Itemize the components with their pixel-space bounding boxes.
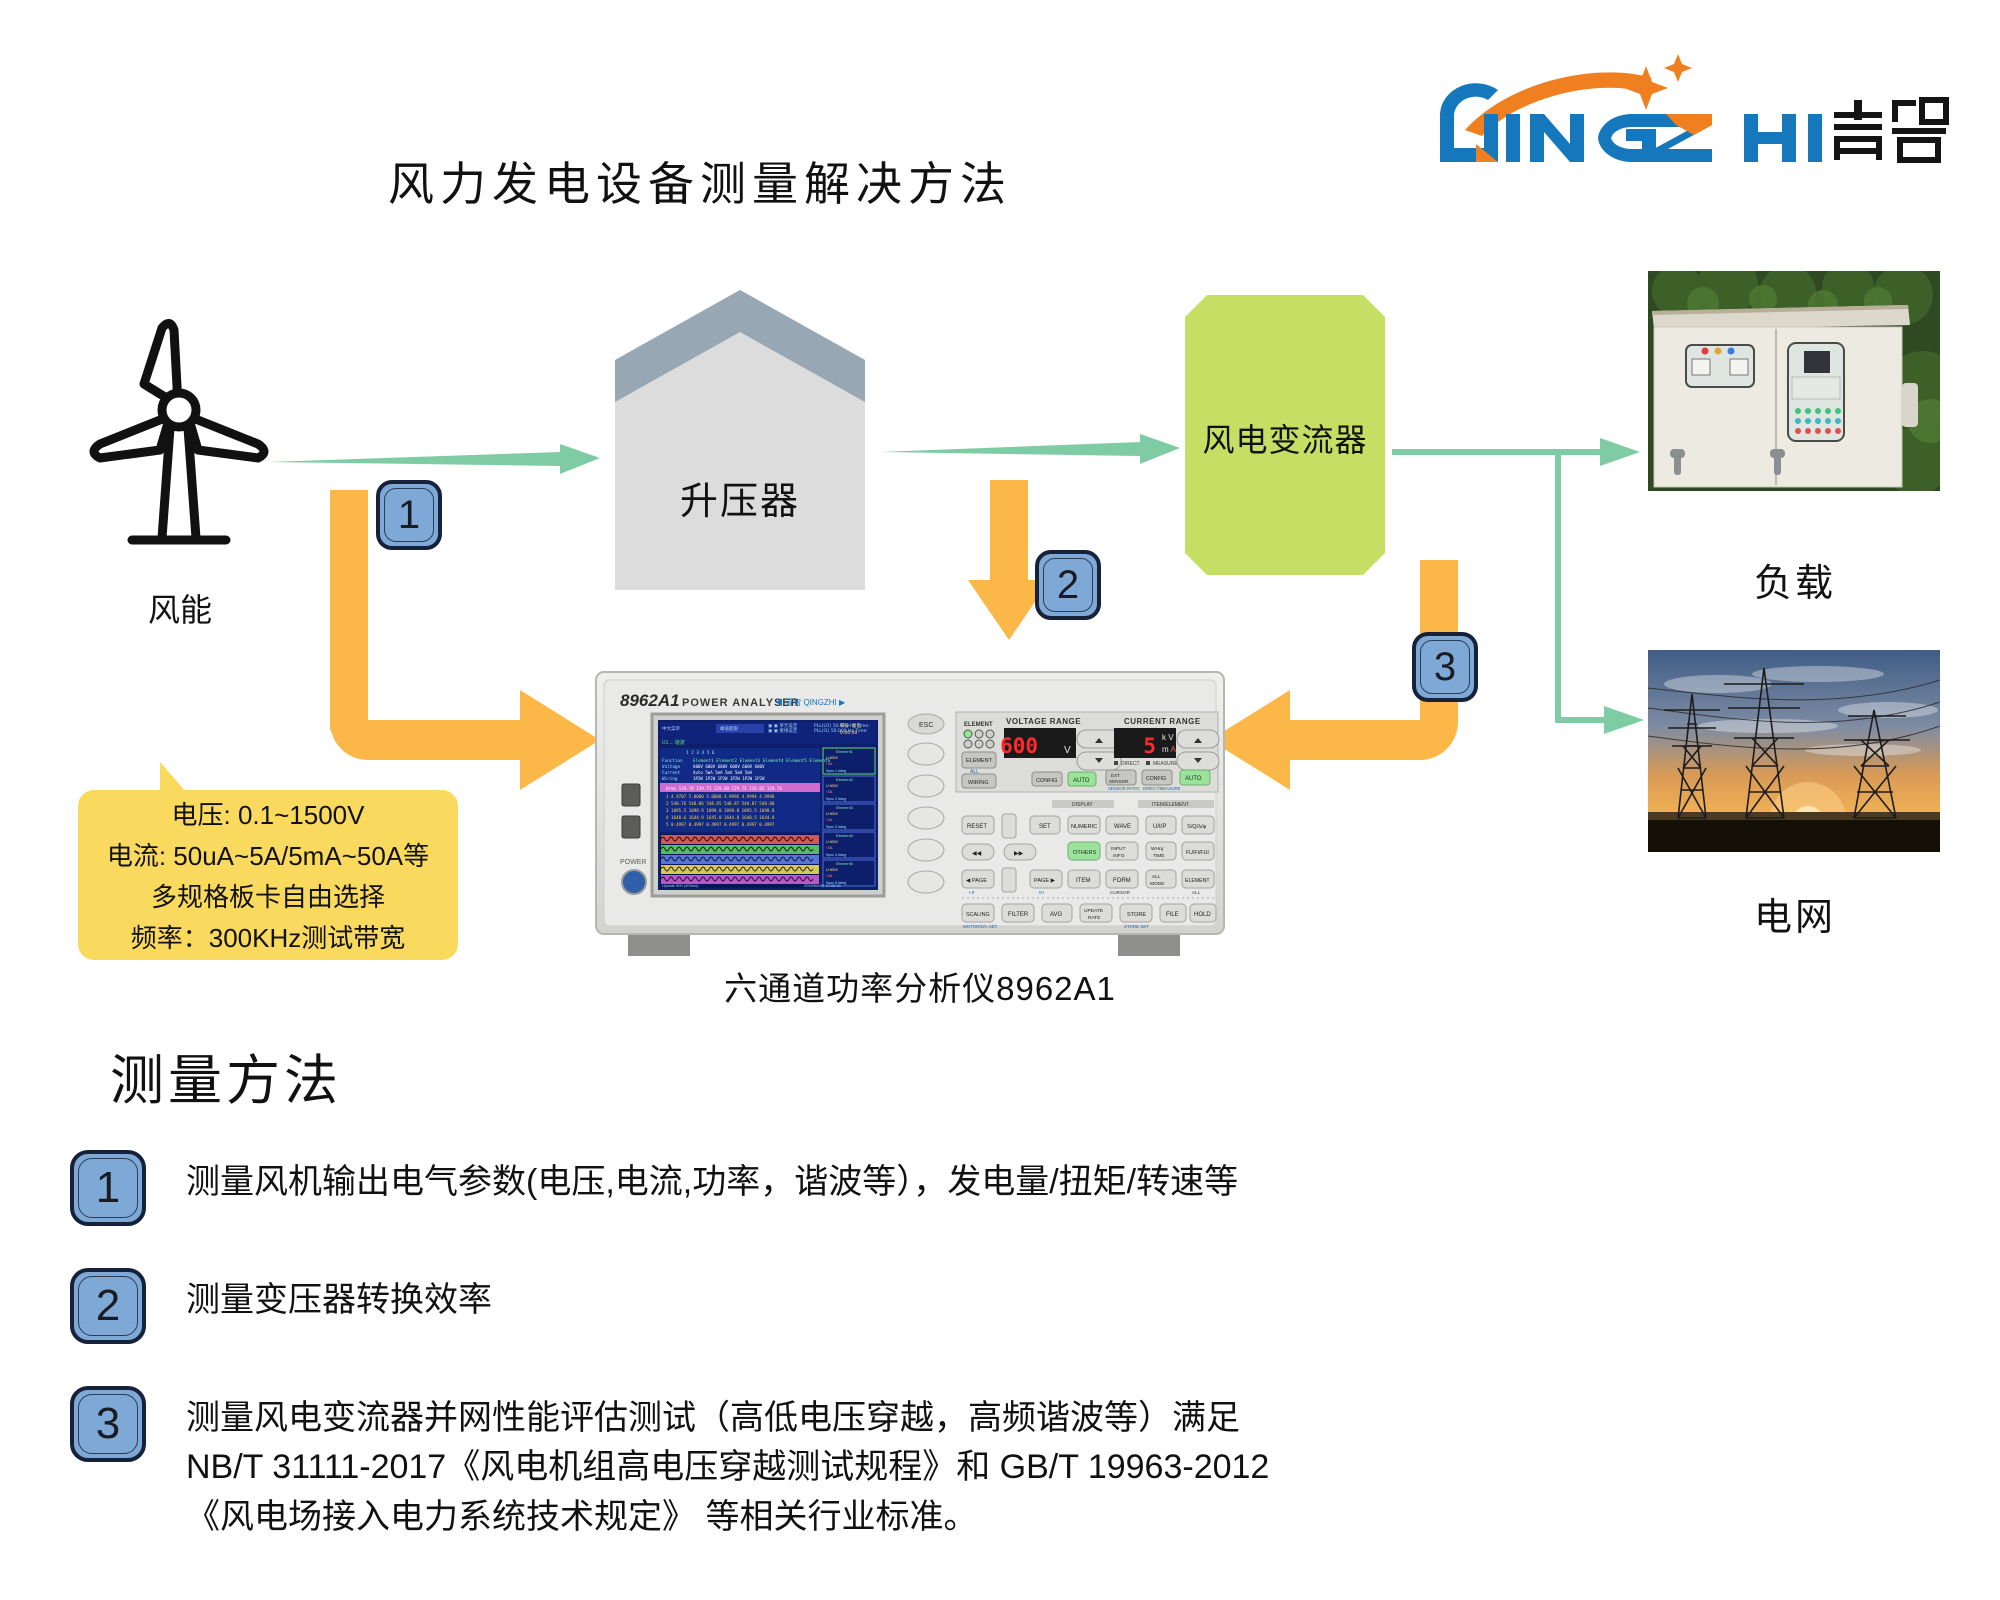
method-item-1: 1 测量风机输出电气参数(电压,电流,功率，谐波等），发电量/扭矩/转速等 <box>70 1150 1950 1226</box>
svg-text:ALL: ALL <box>1192 890 1201 895</box>
svg-text:ELEMENT: ELEMENT <box>966 758 993 764</box>
svg-text:2 548.76 548.86 548.85 548: 2 548.76 548.86 548.85 548.87 548.87 548… <box>666 801 775 806</box>
svg-text:AUTO: AUTO <box>1185 776 1202 782</box>
method-item-2: 2 测量变压器转换效率 <box>70 1268 1950 1344</box>
svg-text:U 600V: U 600V <box>826 756 839 760</box>
svg-text:U 600V: U 600V <box>826 812 839 816</box>
svg-text:NUMERIC: NUMERIC <box>1071 824 1097 830</box>
method-badge-2-number: 2 <box>96 1284 120 1328</box>
svg-text:DIRECT/MEASURE: DIRECT/MEASURE <box>1143 786 1181 791</box>
svg-text:MEASURE: MEASURE <box>1153 761 1178 767</box>
svg-text:I 5A: I 5A <box>826 874 833 878</box>
svg-text:SET: SET <box>1039 824 1051 830</box>
green-arrow-1 <box>268 444 600 474</box>
method-1-line-1: 测量风机输出电气参数(电压,电流,功率，谐波等），发电量/扭矩/转速等 <box>186 1158 1238 1207</box>
svg-text:Update 500 (400ms): Update 500 (400ms) <box>662 883 699 888</box>
svg-text:4 1640.6 1644.9 1645.0 164: 4 1640.6 1644.9 1645.0 1644.8 1640.5 164… <box>666 815 775 820</box>
diagram-badge-1[interactable]: 1 <box>376 480 442 550</box>
svg-text:0:00:00: 0:00:00 <box>840 730 857 736</box>
svg-text:8962A1: 8962A1 <box>620 691 680 710</box>
method-3-line-3: 《风电场接入电力系统技术规定》 等相关行业标准。 <box>186 1493 1269 1542</box>
power-label-text: POWER <box>620 859 646 866</box>
svg-text:CURSOR: CURSOR <box>1110 890 1131 895</box>
svg-text:0-I: 0-I <box>1039 890 1044 895</box>
grid-label: 电网 <box>1620 886 1970 941</box>
svg-text:Wiring: Wiring <box>662 776 678 782</box>
svg-text:U1→ 谐波: U1→ 谐波 <box>662 739 685 746</box>
svg-text:FILE: FILE <box>1166 912 1179 918</box>
logo-sparkle-large <box>1624 66 1668 110</box>
svg-text:5 0.4997 0.4997 0.4997 0.4: 5 0.4997 0.4997 0.4997 0.4997 0.4997 0.4… <box>666 822 775 827</box>
svg-text:◀ PAGE: ◀ PAGE <box>966 878 987 884</box>
svg-text:FORM: FORM <box>1113 878 1131 884</box>
svg-text:m A: m A <box>1162 745 1176 754</box>
green-arrowhead-load <box>1600 438 1640 466</box>
svg-text:5: 5 <box>1143 734 1156 758</box>
booster-label: 升压器 <box>615 470 865 525</box>
svg-text:Sync 4 Integ: Sync 4 Integ <box>826 853 846 857</box>
svg-text:ELEMENT: ELEMENT <box>964 722 993 728</box>
page-title: 风力发电设备测量解决方法 <box>0 148 1400 214</box>
svg-text:HOLD: HOLD <box>1194 912 1211 918</box>
power-button <box>622 870 646 894</box>
svg-text:DIRECT: DIRECT <box>1121 761 1140 767</box>
svg-text:1P2W 1P2W 1P2W 1P2W 1P2W 1P2W: 1P2W 1P2W 1P2W 1P2W 1P2W 1P2W <box>693 776 765 781</box>
power-grid-photo <box>1648 650 1940 852</box>
svg-text:Sync 3 Integ: Sync 3 Integ <box>826 825 846 829</box>
svg-text:INPUT: INPUT <box>1111 846 1125 852</box>
svg-text:WAVE: WAVE <box>1114 824 1131 830</box>
svg-text:▣ ▣ 单元设定: ▣ ▣ 单元设定 <box>768 722 798 729</box>
svg-text:▶▶: ▶▶ <box>1014 851 1024 857</box>
svg-text:峰值超限: 峰值超限 <box>720 725 738 732</box>
svg-text:中文菜单: 中文菜单 <box>662 725 680 732</box>
method-text-3: 测量风电变流器并网性能评估测试（高低电压穿越，高频谐波等）满足 NB/T 311… <box>186 1386 1269 1542</box>
booster-shape <box>615 290 865 590</box>
method-badge-1-number: 1 <box>96 1166 120 1210</box>
svg-text:WHrq: WHrq <box>1151 846 1164 852</box>
svg-text:I 5A: I 5A <box>826 790 833 794</box>
badge-2-number: 2 <box>1057 565 1079 605</box>
badge-1-number: 1 <box>398 495 420 535</box>
svg-text:◀ 青智 QINGZHI ▶: ◀ 青智 QINGZHI ▶ <box>775 697 846 707</box>
spec-line-current: 电流: 50uA~5A/5mA~50A等 <box>107 836 429 873</box>
svg-text:▣ ▣ 接线设定: ▣ ▣ 接线设定 <box>768 727 798 734</box>
svg-text:600V 600V 600V 600V 600V 600V: 600V 600V 600V 600V 600V 600V <box>693 764 765 769</box>
svg-text:RESET: RESET <box>967 824 987 830</box>
svg-text:Sync 1 Integ: Sync 1 Integ <box>826 769 846 773</box>
svg-text:3 1095.5 1098.9 1099.0 109: 3 1095.5 1098.9 1099.0 1098.8 1095.5 109… <box>666 808 775 813</box>
svg-text:600: 600 <box>1000 734 1038 758</box>
diagram-badge-2[interactable]: 2 <box>1035 550 1101 620</box>
svg-text:2019/06/05 12:06:05: 2019/06/05 12:06:05 <box>804 883 841 888</box>
svg-text:FILTER: FILTER <box>1008 912 1029 918</box>
svg-text:U/I/P: U/I/P <box>1153 824 1166 830</box>
logo-sparkle-small <box>1664 54 1692 82</box>
diagram-badge-3[interactable]: 3 <box>1412 632 1478 702</box>
svg-text:TIME: TIME <box>1153 853 1164 859</box>
svg-text:1 4.9707 5.0000 5.0000 4.9: 1 4.9707 5.0000 5.0000 4.9996 4.9994 4.9… <box>666 794 775 799</box>
spec-callout: 电压: 0.1~1500V 电流: 50uA~5A/5mA~50A等 多规格板卡… <box>78 790 458 960</box>
svg-text:WIRING: WIRING <box>968 780 988 786</box>
wind-turbine-icon <box>78 310 278 560</box>
svg-text:U 600V: U 600V <box>826 840 839 844</box>
svg-text:Element3: Element3 <box>836 805 854 810</box>
svg-text:◀◀: ◀◀ <box>972 851 982 857</box>
svg-text:Voltage: Voltage <box>662 764 681 770</box>
svg-text:积分: 复位: 积分: 复位 <box>840 722 861 729</box>
svg-text:ALL: ALL <box>1152 874 1161 880</box>
svg-text:UPDATE: UPDATE <box>1084 908 1103 914</box>
badge-3-number: 3 <box>1434 647 1456 687</box>
svg-text:CURRENT RANGE: CURRENT RANGE <box>1124 717 1201 726</box>
usb-port-1 <box>622 784 640 806</box>
svg-text:AUTO: AUTO <box>1073 778 1090 784</box>
svg-text:I 5A: I 5A <box>826 818 833 822</box>
spec-line-frequency: 频率：300KHz测试带宽 <box>131 918 406 955</box>
method-text-2: 测量变压器转换效率 <box>186 1268 492 1325</box>
green-arrowhead-grid <box>1604 706 1644 734</box>
svg-text:I 5A: I 5A <box>826 762 833 766</box>
method-badge-3-number: 3 <box>96 1402 120 1446</box>
svg-text:CONFIG: CONFIG <box>1146 776 1166 782</box>
logo-cn-chars <box>1834 100 1946 160</box>
method-text-1: 测量风机输出电气参数(电压,电流,功率，谐波等），发电量/扭矩/转速等 <box>186 1150 1238 1207</box>
method-badge-2[interactable]: 2 <box>70 1268 146 1344</box>
svg-text:k V: k V <box>1162 733 1174 742</box>
usb-port-2 <box>622 816 640 838</box>
svg-text:OTHERS: OTHERS <box>1073 850 1097 856</box>
svg-text:Auto 5mA 5mA 5mA 5mA 5mA: Auto 5mA 5mA 5mA 5mA 5mA <box>693 770 753 775</box>
method-2-line-1: 测量变压器转换效率 <box>186 1276 492 1325</box>
load-label: 负载 <box>1620 552 1970 607</box>
power-analyzer-device: 8962A1 POWER ANALYSER ◀ 青智 QINGZHI ▶ 中文菜… <box>590 664 1240 964</box>
svg-text:U 600V: U 600V <box>826 868 839 872</box>
svg-text:VOLTAGE RANGE: VOLTAGE RANGE <box>1006 717 1081 726</box>
svg-text:SCALING: SCALING <box>966 912 990 918</box>
method-3-line-1: 测量风电变流器并网性能评估测试（高低电压穿越，高频谐波等）满足 <box>186 1394 1269 1443</box>
svg-text:STORE: STORE <box>1127 912 1146 918</box>
svg-text:I 5A: I 5A <box>826 846 833 850</box>
svg-text:INFO: INFO <box>1113 853 1125 859</box>
svg-text:RATE: RATE <box>1088 915 1100 921</box>
orange-arrow-1 <box>330 490 600 790</box>
method-badge-3[interactable]: 3 <box>70 1386 146 1462</box>
load-cabinet-photo <box>1648 271 1940 491</box>
svg-text:Function: Function <box>662 758 683 764</box>
svg-text:PAGE ▶: PAGE ▶ <box>1034 878 1056 884</box>
svg-text:AVG: AVG <box>1050 912 1063 918</box>
spec-line-voltage: 电压: 0.1~1500V <box>172 795 365 832</box>
svg-text:ESC: ESC <box>919 722 933 729</box>
svg-text:Element2: Element2 <box>836 777 854 782</box>
converter-label: 风电变流器 <box>1185 415 1385 461</box>
brand-logo <box>1430 52 1950 162</box>
logo-wordmark <box>1440 83 1822 162</box>
method-3-line-2: NB/T 31111-2017《风电机组高电压穿越测试规程》和 GB/T 199… <box>186 1443 1269 1492</box>
methods-list: 1 测量风机输出电气参数(电压,电流,功率，谐波等），发电量/扭矩/转速等 2 … <box>70 1150 1950 1584</box>
wind-source-label: 风能 <box>60 585 300 631</box>
analyzer-caption: 六通道功率分析仪8962A1 <box>600 962 1240 1010</box>
green-arrow-2 <box>880 434 1180 464</box>
svg-text:ITEM/ELEMENT: ITEM/ELEMENT <box>1152 802 1189 808</box>
svg-text:Element1: Element1 <box>836 749 854 754</box>
svg-text:U 600V: U 600V <box>826 784 839 788</box>
svg-text:MODE: MODE <box>1150 881 1164 887</box>
svg-text:ITEM: ITEM <box>1076 878 1090 884</box>
svg-text:ELEMENT: ELEMENT <box>1185 878 1210 884</box>
svg-text:Urms 129.70 129.71 129.80 129.: Urms 129.70 129.71 129.80 129.75 129.82 … <box>666 786 782 791</box>
svg-text:1 2 3 4 5 6: 1 2 3 4 5 6 <box>686 750 715 756</box>
methods-heading: 测量方法 <box>110 1036 342 1115</box>
svg-text:Element5: Element5 <box>836 861 854 866</box>
method-item-3: 3 测量风电变流器并网性能评估测试（高低电压穿越，高频谐波等）满足 NB/T 3… <box>70 1386 1950 1542</box>
svg-text:FU/FI/FUI: FU/FI/FUI <box>1186 850 1209 856</box>
svg-text:CONFIG: CONFIG <box>1036 778 1057 784</box>
svg-text:STORE SET: STORE SET <box>1124 924 1149 929</box>
svg-text:SENSOR RATIO: SENSOR RATIO <box>1108 786 1140 791</box>
svg-text:Current: Current <box>662 770 681 776</box>
svg-text:I-0: I-0 <box>969 890 975 895</box>
method-badge-1[interactable]: 1 <box>70 1150 146 1226</box>
svg-text:V: V <box>1064 745 1071 756</box>
svg-text:SENSOR: SENSOR <box>1109 779 1129 784</box>
svg-text:Sync 2 Integ: Sync 2 Integ <box>826 797 846 801</box>
spec-line-cards: 多规格板卡自由选择 <box>151 877 385 914</box>
svg-text:Element4: Element4 <box>836 833 854 838</box>
svg-text:EXT: EXT <box>1111 773 1120 778</box>
svg-text:MOTOR/D/A SET: MOTOR/D/A SET <box>963 924 998 929</box>
svg-text:DISPLAY: DISPLAY <box>1072 802 1093 808</box>
svg-text:S/Q/λ/φ: S/Q/λ/φ <box>1187 824 1207 830</box>
